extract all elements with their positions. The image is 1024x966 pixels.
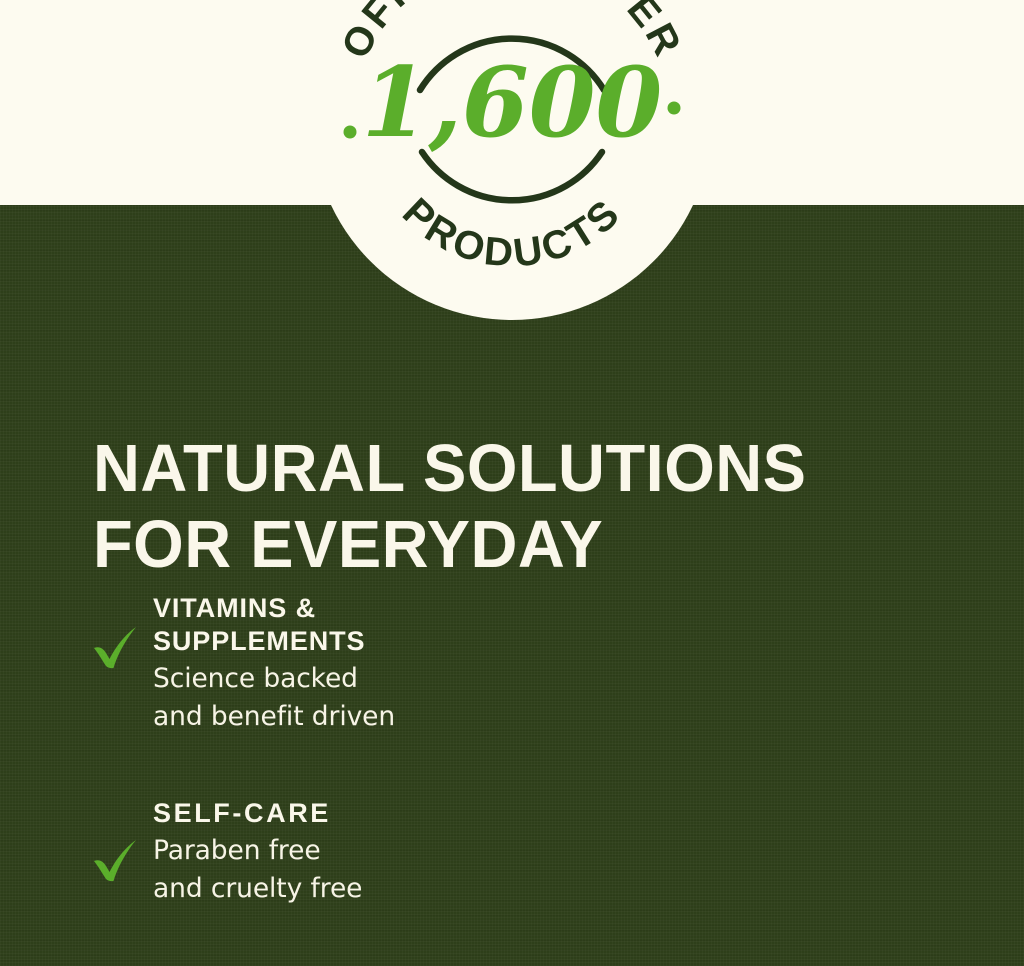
- offering-over-products-badge: OFFERING OVER PRODUCTS 1,600: [312, 0, 712, 320]
- feature-item-self-care: SELF-CARE Paraben free and cruelty free: [0, 797, 530, 966]
- feature-title: SELF-CARE: [153, 797, 530, 830]
- feature-title: VITAMINS & SUPPLEMENTS: [153, 592, 530, 658]
- feature-description: Paraben free and cruelty free: [153, 832, 530, 908]
- check-icon: [92, 839, 140, 883]
- headline-line-2: FOR EVERYDAY: [93, 507, 947, 583]
- feature-item-healthy-home: HEALTHY HOME Thoughtful, eco-friendly, n…: [530, 592, 1024, 797]
- badge-inner-arc-bottom: [422, 152, 602, 200]
- badge-center-number: 1,600: [362, 46, 663, 159]
- promo-poster: OFFERING OVER PRODUCTS 1,600 NATURAL SOL…: [0, 0, 1024, 966]
- feature-description: Science backed and benefit driven: [153, 660, 530, 736]
- badge-dot-right: [668, 102, 681, 115]
- check-icon: [92, 626, 140, 670]
- page-title: NATURAL SOLUTIONS FOR EVERYDAY: [93, 431, 947, 583]
- badge-dot-left: [344, 126, 357, 139]
- feature-list: VITAMINS & SUPPLEMENTS Science backed an…: [0, 592, 1024, 966]
- headline-line-1: NATURAL SOLUTIONS: [93, 431, 947, 507]
- feature-item-vitamins-supplements: VITAMINS & SUPPLEMENTS Science backed an…: [0, 592, 530, 797]
- feature-text-block: SELF-CARE Paraben free and cruelty free: [153, 797, 530, 908]
- feature-item-food-beverage: FOOD & BEVERAGE Nourishing, natural, who…: [530, 797, 1024, 966]
- feature-text-block: VITAMINS & SUPPLEMENTS Science backed an…: [153, 592, 530, 736]
